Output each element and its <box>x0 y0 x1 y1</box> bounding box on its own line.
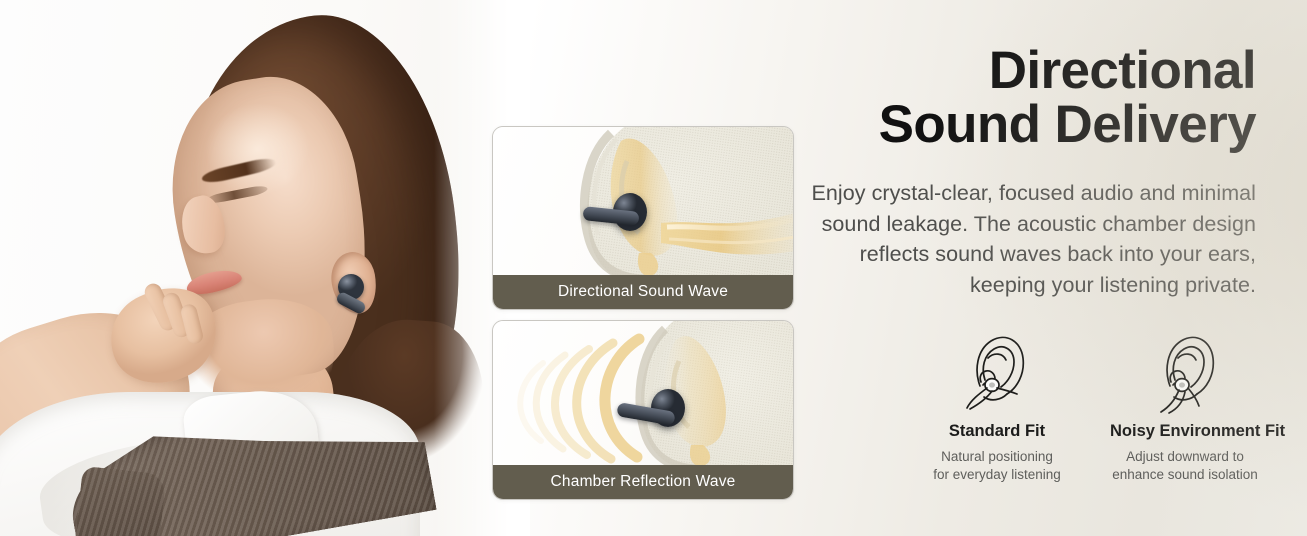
fit-options: Standard Fit Natural positioning for eve… <box>900 330 1260 484</box>
fit-desc-line-1: Natural positioning <box>941 449 1053 464</box>
description-paragraph: Enjoy crystal-clear, focused audio and m… <box>786 178 1256 300</box>
fit-desc-line-2: enhance sound isolation <box>1112 467 1258 482</box>
ear-noisy-environment-fit-icon <box>1110 330 1260 416</box>
ear-standard-fit-icon <box>922 330 1072 416</box>
product-feature-banner: Directional Sound Wave <box>0 0 1307 536</box>
fit-title-noisy: Noisy Environment Fit <box>1110 422 1260 441</box>
ear-standard-fit-glyph <box>957 330 1037 416</box>
headline-line-2: Sound Delivery <box>879 95 1256 154</box>
fit-description-standard: Natural positioning for everyday listeni… <box>922 448 1072 484</box>
lifestyle-model-photo <box>0 0 530 536</box>
scarf-tail <box>74 466 167 536</box>
headline-line-1: Directional <box>989 41 1256 100</box>
card-chamber-reflection-wave[interactable]: Chamber Reflection Wave <box>492 320 794 500</box>
copy-block: Directional Sound Delivery Enjoy crystal… <box>786 44 1256 300</box>
fit-description-noisy: Adjust downward to enhance sound isolati… <box>1110 448 1260 484</box>
card-caption-directional: Directional Sound Wave <box>493 275 793 309</box>
fit-option-noisy[interactable]: Noisy Environment Fit Adjust downward to… <box>1110 330 1260 484</box>
fit-title-standard: Standard Fit <box>922 422 1072 441</box>
card-directional-sound-wave[interactable]: Directional Sound Wave <box>492 126 794 310</box>
ear-noisy-fit-glyph <box>1145 330 1225 416</box>
fit-desc-line-2: for everyday listening <box>933 467 1061 482</box>
card-caption-chamber: Chamber Reflection Wave <box>493 465 793 499</box>
fit-option-standard[interactable]: Standard Fit Natural positioning for eve… <box>922 330 1072 484</box>
directional-wave-illustration <box>493 127 793 275</box>
page-title: Directional Sound Delivery <box>786 44 1256 152</box>
chamber-reflection-illustration <box>493 321 793 465</box>
chamber-reflection-wave-graphic <box>493 321 793 465</box>
fit-desc-line-1: Adjust downward to <box>1126 449 1244 464</box>
